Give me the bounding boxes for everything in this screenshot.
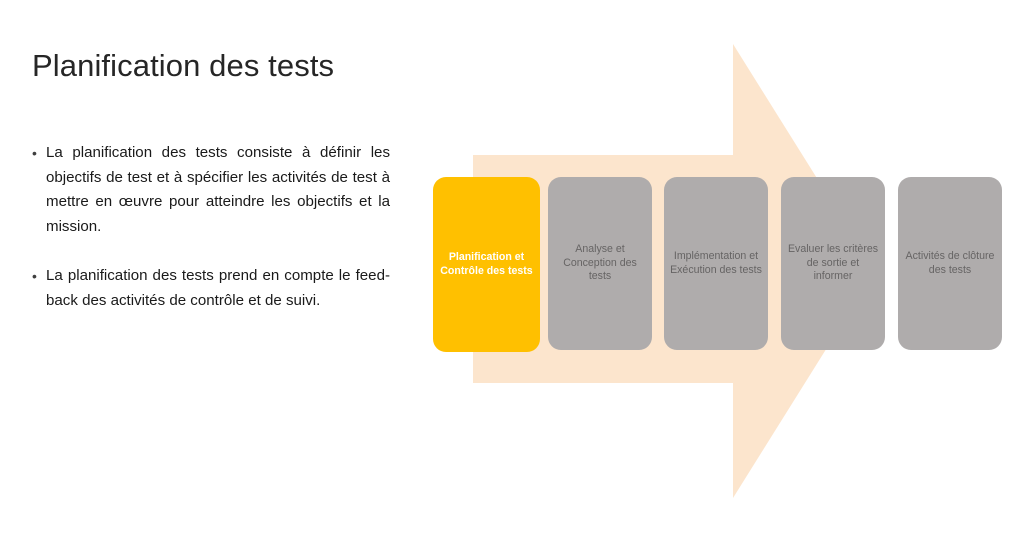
list-item: • La planification des tests consiste à …	[28, 141, 390, 239]
bullet-marker-icon: •	[28, 141, 46, 166]
slide-canvas: Planification des tests • La planificati…	[0, 0, 1024, 544]
bullet-text: La planification des tests prend en comp…	[46, 264, 390, 313]
bullet-text: La planification des tests consiste à dé…	[46, 141, 390, 239]
process-step-label: Analyse et Conception des tests	[548, 243, 652, 284]
process-step-label: Activités de clôture des tests	[898, 250, 1002, 277]
process-step-label: Planification et Contrôle des tests	[433, 251, 540, 278]
process-step-label: Implémentation et Exécution des tests	[664, 250, 768, 277]
process-step-5[interactable]: Activités de clôture des tests	[898, 177, 1002, 350]
process-step-4[interactable]: Evaluer les critères de sortie et inform…	[781, 177, 885, 350]
process-step-2[interactable]: Analyse et Conception des tests	[548, 177, 652, 350]
process-step-1[interactable]: Planification et Contrôle des tests	[433, 177, 540, 352]
bullet-list: • La planification des tests consiste à …	[28, 141, 390, 338]
bullet-marker-icon: •	[28, 264, 46, 289]
page-title: Planification des tests	[32, 48, 452, 84]
process-step-label: Evaluer les critères de sortie et inform…	[781, 243, 885, 284]
list-item: • La planification des tests prend en co…	[28, 264, 390, 313]
process-step-3[interactable]: Implémentation et Exécution des tests	[664, 177, 768, 350]
